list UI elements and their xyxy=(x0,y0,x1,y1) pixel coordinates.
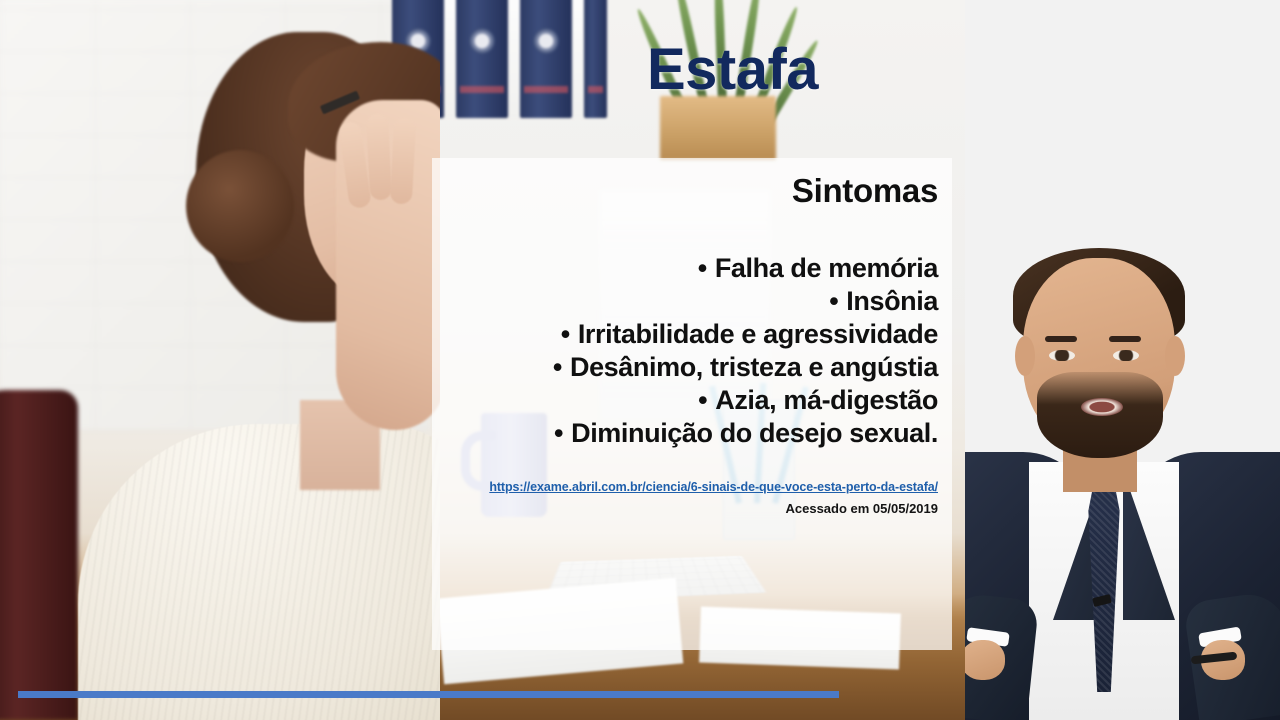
tired-woman-photo xyxy=(0,0,440,720)
source-link[interactable]: https://exame.abril.com.br/ciencia/6-sin… xyxy=(446,480,938,495)
ear-left xyxy=(1015,336,1035,376)
eye-right xyxy=(1113,350,1139,361)
page-title: Estafa xyxy=(520,36,945,103)
list-item-label: Desânimo, tristeza e angústia xyxy=(570,352,938,382)
source-citation: https://exame.abril.com.br/ciencia/6-sin… xyxy=(446,480,938,516)
presenter-video xyxy=(965,0,1280,720)
eye-left xyxy=(1049,350,1075,361)
list-item: •Irritabilidade e agressividade xyxy=(446,318,938,351)
eyebrow-left xyxy=(1045,336,1077,342)
ear-right xyxy=(1165,336,1185,376)
list-item: •Falha de memória xyxy=(446,252,938,285)
bullet-icon: • xyxy=(561,319,570,349)
hand-left xyxy=(965,640,1005,680)
list-item: •Insônia xyxy=(446,285,938,318)
bullet-icon: • xyxy=(553,352,562,382)
video-player-stage: Estafa Sintomas •Falha de memória •Insôn… xyxy=(0,0,1280,720)
progress-bar-fill xyxy=(18,691,839,698)
list-item-label: Azia, má-digestão xyxy=(715,385,938,415)
content-panel: Sintomas •Falha de memória •Insônia •Irr… xyxy=(432,158,952,650)
mouth xyxy=(1081,398,1123,416)
eyebrow-right xyxy=(1109,336,1141,342)
list-item-label: Irritabilidade e agressividade xyxy=(578,319,938,349)
list-item: •Diminuição do desejo sexual. xyxy=(446,417,938,450)
list-item-label: Falha de memória xyxy=(715,253,938,283)
list-item-label: Insônia xyxy=(846,286,938,316)
office-chair xyxy=(0,390,78,720)
access-date: Acessado em 05/05/2019 xyxy=(446,501,938,516)
bullet-icon: • xyxy=(829,286,838,316)
section-heading: Sintomas xyxy=(446,172,938,210)
plant-wooden-box xyxy=(660,96,776,160)
white-sweater xyxy=(78,424,440,720)
progress-bar-track[interactable] xyxy=(18,691,965,698)
list-item-label: Diminuição do desejo sexual. xyxy=(571,418,938,448)
slide-area: Estafa Sintomas •Falha de memória •Insôn… xyxy=(0,0,965,720)
list-item: •Azia, má-digestão xyxy=(446,384,938,417)
list-item: •Desânimo, tristeza e angústia xyxy=(446,351,938,384)
bullet-icon: • xyxy=(554,418,563,448)
bullet-icon: • xyxy=(698,385,707,415)
symptom-list: •Falha de memória •Insônia •Irritabilida… xyxy=(446,252,938,450)
bullet-icon: • xyxy=(698,253,707,283)
